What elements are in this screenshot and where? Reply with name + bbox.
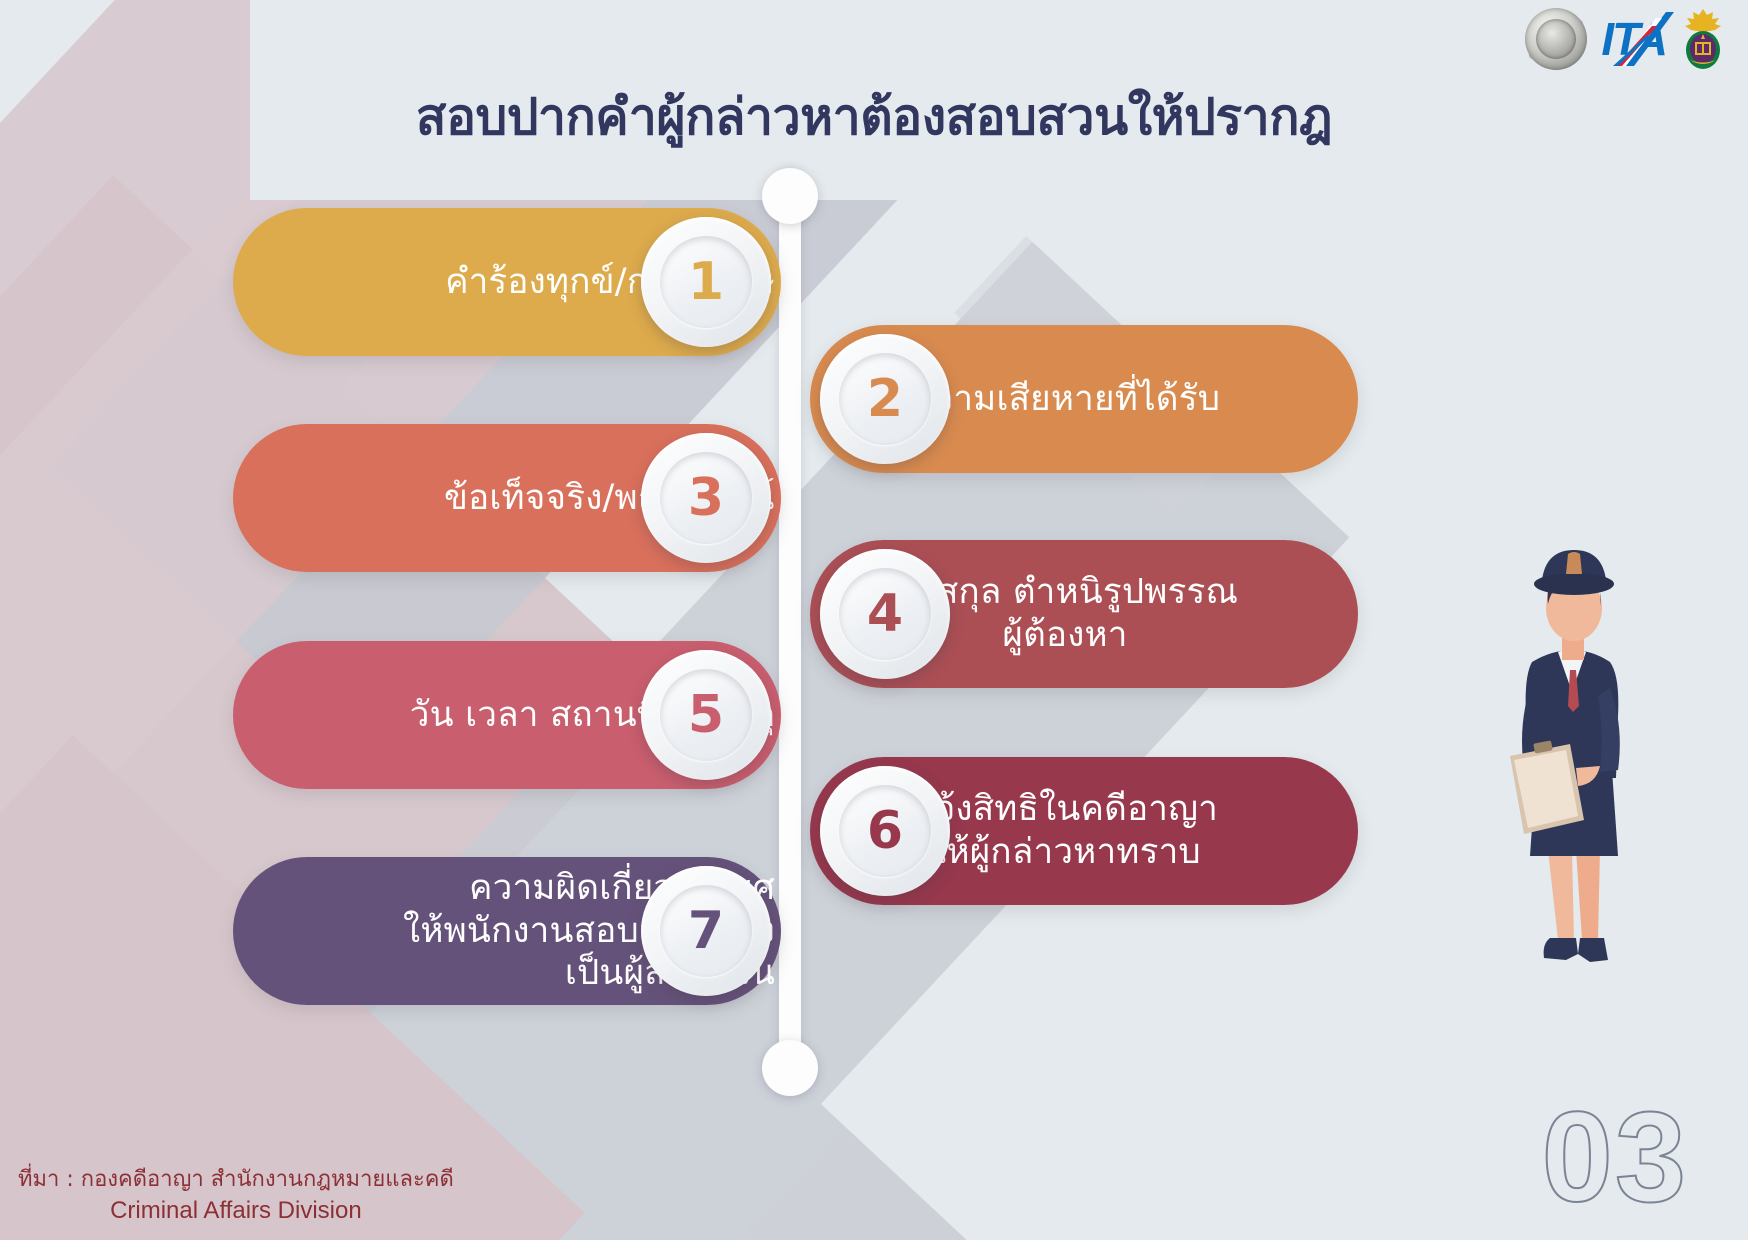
logo-group: ITA — [1525, 8, 1726, 70]
step-pill-5[interactable]: วัน เวลา สถานที่เกิดเหตุ5 — [233, 641, 781, 789]
step-pill-6[interactable]: 6แจ้งสิทธิในคดีอาญา ให้ผู้กล่าวหาทราบ — [810, 757, 1358, 905]
page-title: สอบปากคำผู้กล่าวหาต้องสอบสวนให้ปรากฎ — [0, 78, 1748, 157]
step-number-1: 1 — [688, 256, 724, 308]
timeline-dot-top — [762, 168, 818, 224]
royal-thai-police-crest-icon — [1680, 8, 1726, 70]
step-number-5: 5 — [688, 689, 724, 741]
step-pill-3[interactable]: ข้อเท็จจริง/พฤติการณ์3 — [233, 424, 781, 572]
step-medallion-4: 4 — [820, 549, 950, 679]
step-number-4: 4 — [867, 588, 903, 640]
royal-thai-police-seal-icon — [1525, 8, 1587, 70]
step-medallion-5: 5 — [641, 650, 771, 780]
thai-flag-stripes-icon — [1612, 12, 1674, 66]
step-pill-1[interactable]: คำร้องทุกข์/กล่าวโทษ1 — [233, 208, 781, 356]
female-police-officer-illustration — [1452, 520, 1692, 1000]
timeline-spine — [779, 170, 801, 1070]
footer-source-thai: ที่มา : กองคดีอาญา สำนักงานกฎหมายและคดี — [18, 1166, 454, 1195]
footer-source-english: Criminal Affairs Division — [18, 1195, 454, 1226]
step-medallion-2: 2 — [820, 334, 950, 464]
step-number-2: 2 — [867, 373, 903, 425]
timeline-dot-bottom — [762, 1040, 818, 1096]
footer-source: ที่มา : กองคดีอาญา สำนักงานกฎหมายและคดี … — [18, 1166, 454, 1226]
step-pill-2[interactable]: 2ความเสียหายที่ได้รับ — [810, 325, 1358, 473]
step-number-7: 7 — [688, 905, 724, 957]
infographic-canvas: ITA สอบปากคำผู้กล่าวหาต้องสอบสวนให้ปรากฎ — [0, 0, 1748, 1240]
step-number-3: 3 — [688, 472, 724, 524]
step-medallion-7: 7 — [641, 866, 771, 996]
ita-logo: ITA — [1601, 10, 1666, 68]
step-medallion-3: 3 — [641, 433, 771, 563]
step-medallion-6: 6 — [820, 766, 950, 896]
step-pill-7[interactable]: ความผิดเกี่ยวกับเพศ ให้พนักงานสอบสวนหญิง… — [233, 857, 781, 1005]
page-number-watermark: 03 — [1542, 1094, 1688, 1222]
step-medallion-1: 1 — [641, 217, 771, 347]
step-pill-4[interactable]: 4ชื่อสกุล ตำหนิรูปพรรณ ผู้ต้องหา — [810, 540, 1358, 688]
step-number-6: 6 — [867, 805, 903, 857]
